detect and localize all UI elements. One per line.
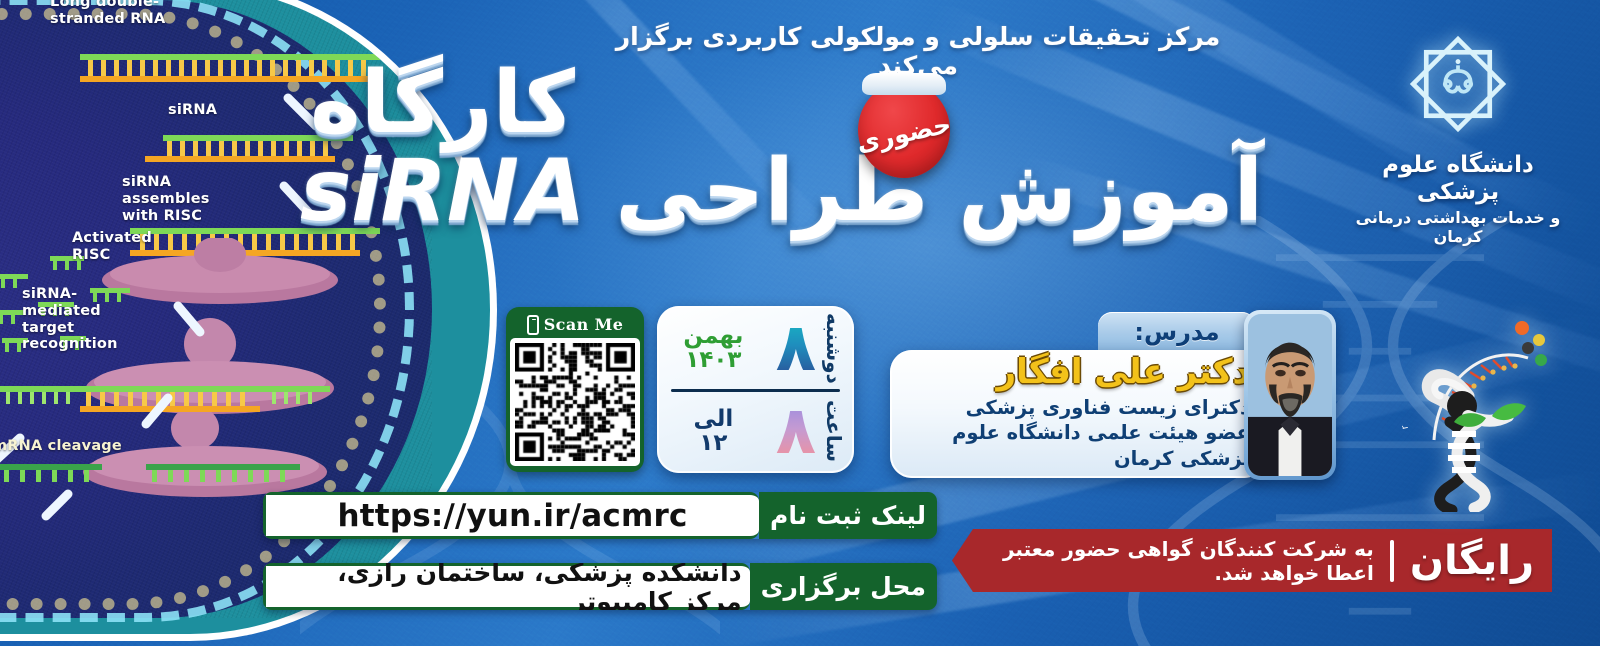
octagram-seal-icon — [1402, 28, 1514, 140]
event-date-card: دوشنبه ۸ بهمن ۱۴۰۳ ساعت ۸ الی ۱۲ — [657, 306, 854, 473]
title-line2-latin: siRNA — [300, 141, 585, 241]
research-center-logo: Applied Cellular and Molecular Research … — [1382, 300, 1582, 512]
university-logo: دانشگاه علوم پزشکی و خدمات بهداشتی درمان… — [1338, 28, 1578, 247]
weekday-label: دوشنبه — [822, 313, 846, 384]
venue-value: دانشکده پزشکی، ساختمان رازی، مرکز کامپیو… — [263, 563, 750, 610]
time-row: ساعت ۸ الی ۱۲ — [657, 392, 854, 471]
month-year-group: بهمن ۱۴۰۳ — [657, 324, 770, 373]
speaker-name: دکتر علی افگار — [997, 354, 1250, 391]
day-number: ۸ — [770, 318, 822, 379]
speaker-panel: دکتر علی افگار دکترای زیست فناوری پزشکی … — [890, 350, 1266, 478]
university-name-line2: و خدمات بهداشتی درمانی کرمان — [1338, 208, 1578, 246]
badge-label: حضوری — [854, 109, 954, 157]
title-block: کارگاه آموزش طراحی siRNA — [300, 60, 1300, 234]
svg-text:Applied Cellular and Molecular: Applied Cellular and Molecular Research … — [1382, 300, 1411, 430]
qr-header: Scan Me — [510, 311, 640, 338]
poster-canvas: Long double- stranded RNA siRNA siRNA as… — [0, 0, 1600, 646]
university-name-line1: دانشگاه علوم پزشکی — [1338, 152, 1578, 206]
time-range-group: الی ۱۲ — [657, 407, 770, 456]
registration-link-label: لینک ثبت نام — [759, 492, 937, 539]
registration-link-bar[interactable]: لینک ثبت نام https://yun.ir/acmrc — [263, 492, 937, 539]
label-long-dsrna: Long double- stranded RNA — [50, 0, 230, 28]
registration-link-value[interactable]: https://yun.ir/acmrc — [263, 492, 759, 539]
label-activated-risc: Activated RISC — [72, 230, 212, 264]
until-word: الی — [693, 407, 733, 431]
page-title-line1: کارگاه — [300, 60, 1300, 146]
speaker-photo-frame — [1244, 310, 1336, 480]
qr-code-image[interactable] — [510, 338, 640, 466]
certificate-note: به شرکت کنندگان گواهی حضور معتبر اعطا خو… — [952, 537, 1374, 585]
free-label: رایگان — [1410, 541, 1534, 581]
time-label: ساعت — [822, 400, 846, 462]
speaker-credential-2: عضو هیئت علمی دانشگاه علوم پزشکی کرمان — [906, 420, 1250, 471]
free-certificate-ribbon: رایگان به شرکت کنندگان گواهی حضور معتبر … — [952, 529, 1552, 592]
qr-code-card[interactable]: Scan Me — [506, 307, 644, 472]
badge-snow-cap-icon — [862, 73, 946, 95]
avatar — [1248, 314, 1332, 476]
qr-canvas[interactable] — [515, 343, 635, 461]
month-label: بهمن — [683, 324, 743, 348]
smartphone-icon — [527, 315, 539, 335]
label-target-recognition: siRNA- mediated target recognition — [22, 286, 142, 353]
year-label: ۱۴۰۳ — [685, 348, 741, 373]
research-center-curved-text: Applied Cellular and Molecular Research … — [1382, 300, 1411, 430]
scan-me-label: Scan Me — [544, 315, 624, 334]
venue-bar: محل برگزاری دانشکده پزشکی، ساختمان رازی،… — [263, 563, 937, 610]
speaker-role-label: مدرس: — [1134, 318, 1219, 346]
speaker-credential-1: دکترای زیست فناوری پزشکی — [966, 395, 1250, 421]
page-title-line2: آموزش طراحی siRNA — [300, 148, 1300, 234]
ribbon-divider — [1390, 540, 1394, 582]
end-hour: ۱۲ — [699, 431, 727, 456]
label-sirna: siRNA — [168, 102, 217, 119]
date-row: دوشنبه ۸ بهمن ۱۴۰۳ — [657, 309, 854, 388]
label-sirna-risc: siRNA assembles with RISC — [122, 174, 272, 224]
cleaved-mrna-shape — [0, 460, 300, 488]
venue-label: محل برگزاری — [750, 563, 937, 610]
label-mrna-cleavage: mRNA cleavage — [0, 438, 122, 455]
attendance-mode-badge: حضوری — [858, 82, 950, 178]
speaker-role-tab: مدرس: — [1098, 312, 1256, 352]
target-mrna-duplex-shape — [0, 382, 330, 422]
start-hour: ۸ — [770, 401, 822, 462]
